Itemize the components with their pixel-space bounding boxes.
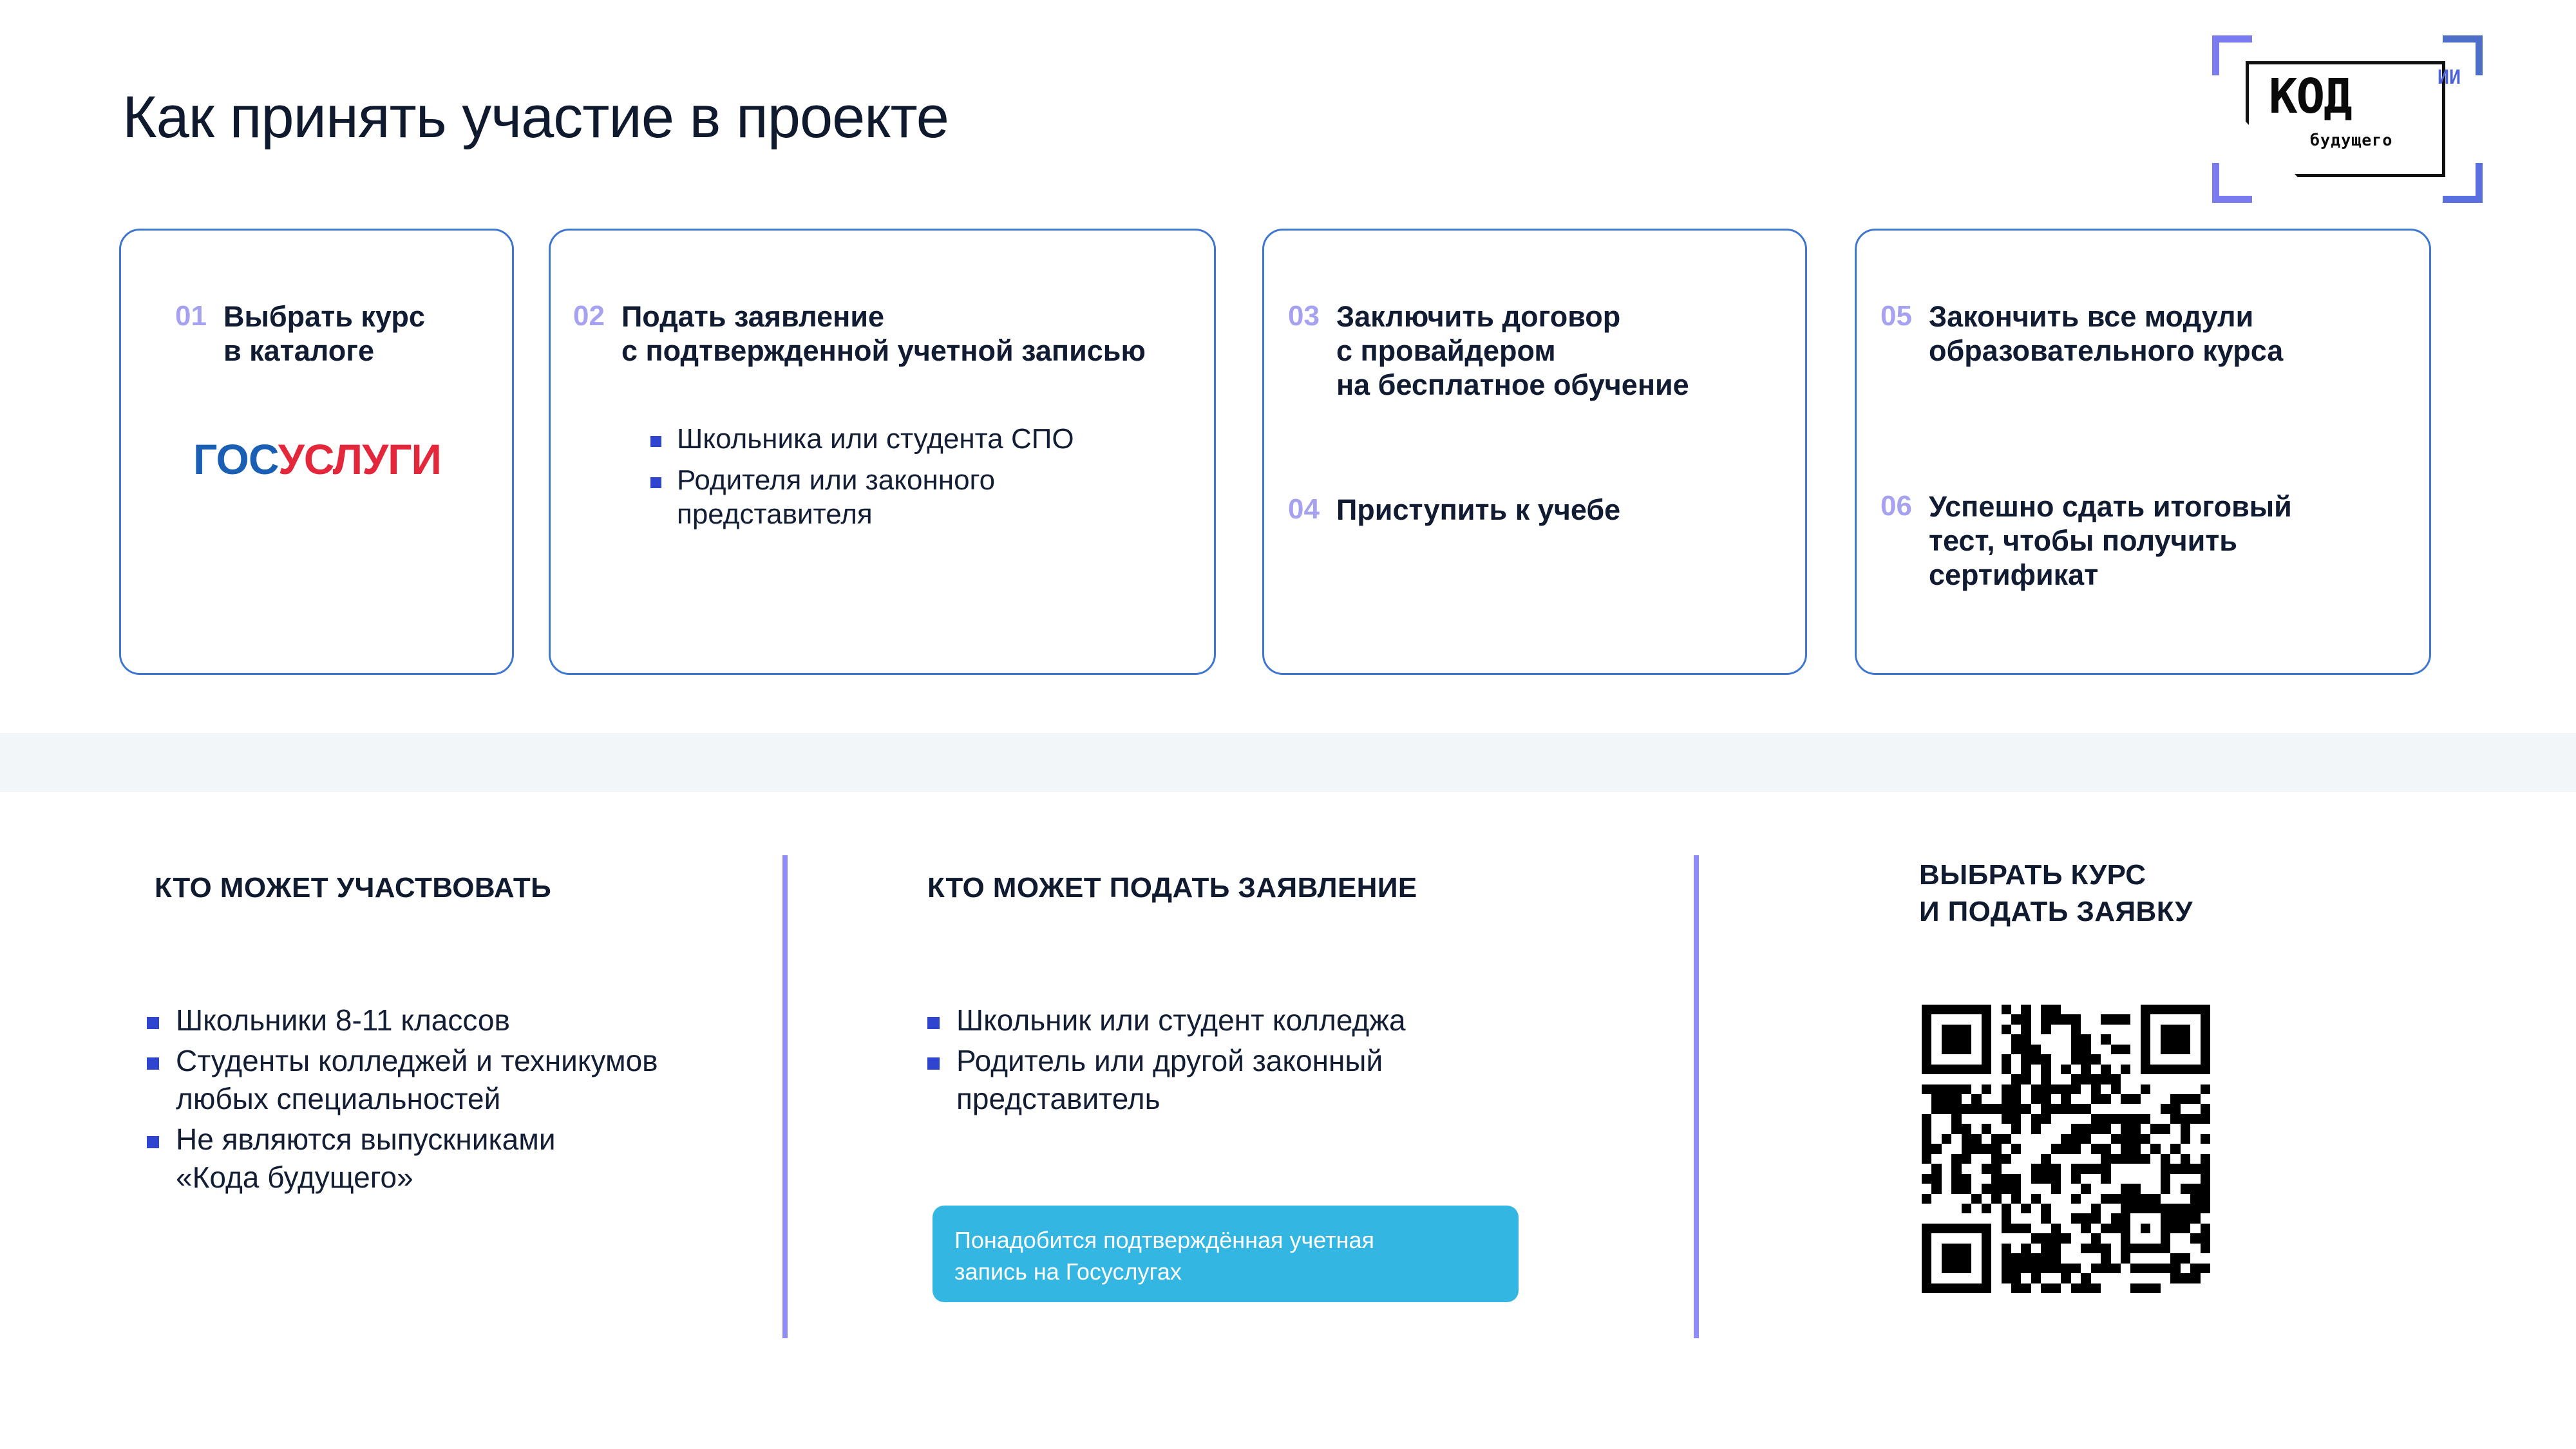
bullet-square-icon bbox=[927, 1017, 940, 1029]
list-item-label: Школьника или студента СПО bbox=[677, 422, 1074, 457]
gosuslugi-account-notice: Понадобится подтверждённая учетная запис… bbox=[933, 1206, 1519, 1302]
qr-code[interactable] bbox=[1922, 1005, 2210, 1293]
step-label: Успешно сдать итоговый тест, чтобы получ… bbox=[1929, 489, 2292, 592]
step-label: Приступить к учебе bbox=[1336, 493, 1620, 527]
logo-word-budushchego: будущего bbox=[2310, 132, 2392, 148]
bullet-square-icon bbox=[650, 477, 661, 488]
step-item-06: 06 Успешно сдать итоговый тест, чтобы по… bbox=[1880, 489, 2292, 592]
bracket-bottom-left-icon bbox=[2212, 163, 2252, 203]
step-card-3 bbox=[1262, 229, 1807, 675]
step-item-01: 01 Выбрать курс в каталоге bbox=[175, 299, 425, 368]
column-heading-who-can-participate: КТО МОЖЕТ УЧАСТВОВАТЬ bbox=[155, 869, 551, 906]
list-item-label: Студенты колледжей и техникумов любых сп… bbox=[176, 1042, 658, 1118]
column-divider-1 bbox=[782, 855, 788, 1338]
step-item-03: 03 Заключить договор с провайдером на бе… bbox=[1288, 299, 1689, 402]
qr-code-matrix bbox=[1922, 1005, 2210, 1293]
page-title: Как принять участие в проекте bbox=[122, 84, 949, 151]
step-card-4 bbox=[1855, 229, 2431, 675]
brand-logo: КОД будущего ИИ bbox=[2212, 35, 2483, 203]
section-separator-band bbox=[0, 733, 2576, 792]
bullet-square-icon bbox=[147, 1017, 159, 1029]
bullet-square-icon bbox=[927, 1057, 940, 1070]
step-label: Подать заявление с подтвержденной учетно… bbox=[621, 299, 1146, 368]
bullet-square-icon bbox=[650, 436, 661, 447]
step-number: 03 bbox=[1288, 299, 1320, 333]
list-item-label: Родителя или законного представителя bbox=[677, 463, 995, 532]
step-label: Выбрать курс в каталоге bbox=[223, 299, 425, 368]
list-item: Школьник или студент колледжа bbox=[927, 1001, 1406, 1039]
column-divider-2 bbox=[1694, 855, 1699, 1338]
gosuslugi-logo: ГОСУСЛУГИ bbox=[193, 438, 441, 480]
step-label: Заключить договор с провайдером на беспл… bbox=[1336, 299, 1689, 402]
list-item: Родителя или законного представителя bbox=[650, 463, 1074, 532]
step-2-bullet-list: Школьника или студента СПО Родителя или … bbox=[650, 422, 1074, 538]
column-heading-choose-course: ВЫБРАТЬ КУРС И ПОДАТЬ ЗАЯВКУ bbox=[1919, 857, 2193, 930]
who-can-apply-list: Школьник или студент колледжа Родитель и… bbox=[927, 1001, 1406, 1121]
bullet-square-icon bbox=[147, 1057, 159, 1070]
who-can-participate-list: Школьники 8-11 классов Студенты колледже… bbox=[147, 1001, 658, 1198]
column-heading-who-can-apply: КТО МОЖЕТ ПОДАТЬ ЗАЯВЛЕНИЕ bbox=[927, 869, 1417, 906]
step-number: 05 bbox=[1880, 299, 1912, 333]
step-number: 04 bbox=[1288, 493, 1320, 526]
list-item-label: Родитель или другой законный представите… bbox=[956, 1042, 1383, 1118]
step-label: Закончить все модули образовательного ку… bbox=[1929, 299, 2283, 368]
gosuslugi-logo-part2: УСЛУГИ bbox=[278, 435, 441, 483]
step-item-04: 04 Приступить к учебе bbox=[1288, 493, 1620, 527]
list-item: Школьники 8-11 классов bbox=[147, 1001, 658, 1039]
list-item-label: Не являются выпускниками «Кода будущего» bbox=[176, 1121, 556, 1197]
logo-word-ai: ИИ bbox=[2438, 66, 2461, 89]
bracket-bottom-right-icon bbox=[2443, 163, 2483, 203]
list-item: Родитель или другой законный представите… bbox=[927, 1042, 1406, 1118]
step-number: 02 bbox=[573, 299, 605, 333]
step-item-05: 05 Закончить все модули образовательного… bbox=[1880, 299, 2283, 368]
list-item-label: Школьники 8-11 классов bbox=[176, 1001, 510, 1039]
list-item: Студенты колледжей и техникумов любых сп… bbox=[147, 1042, 658, 1118]
gosuslugi-logo-part1: ГОС bbox=[193, 435, 278, 483]
step-number: 01 bbox=[175, 299, 207, 333]
step-number: 06 bbox=[1880, 489, 1912, 523]
step-item-02: 02 Подать заявление с подтвержденной уче… bbox=[573, 299, 1146, 368]
bullet-square-icon bbox=[147, 1136, 159, 1148]
list-item-label: Школьник или студент колледжа bbox=[956, 1001, 1406, 1039]
list-item: Школьника или студента СПО bbox=[650, 422, 1074, 457]
logo-word-kod: КОД bbox=[2269, 73, 2351, 120]
list-item: Не являются выпускниками «Кода будущего» bbox=[147, 1121, 658, 1197]
